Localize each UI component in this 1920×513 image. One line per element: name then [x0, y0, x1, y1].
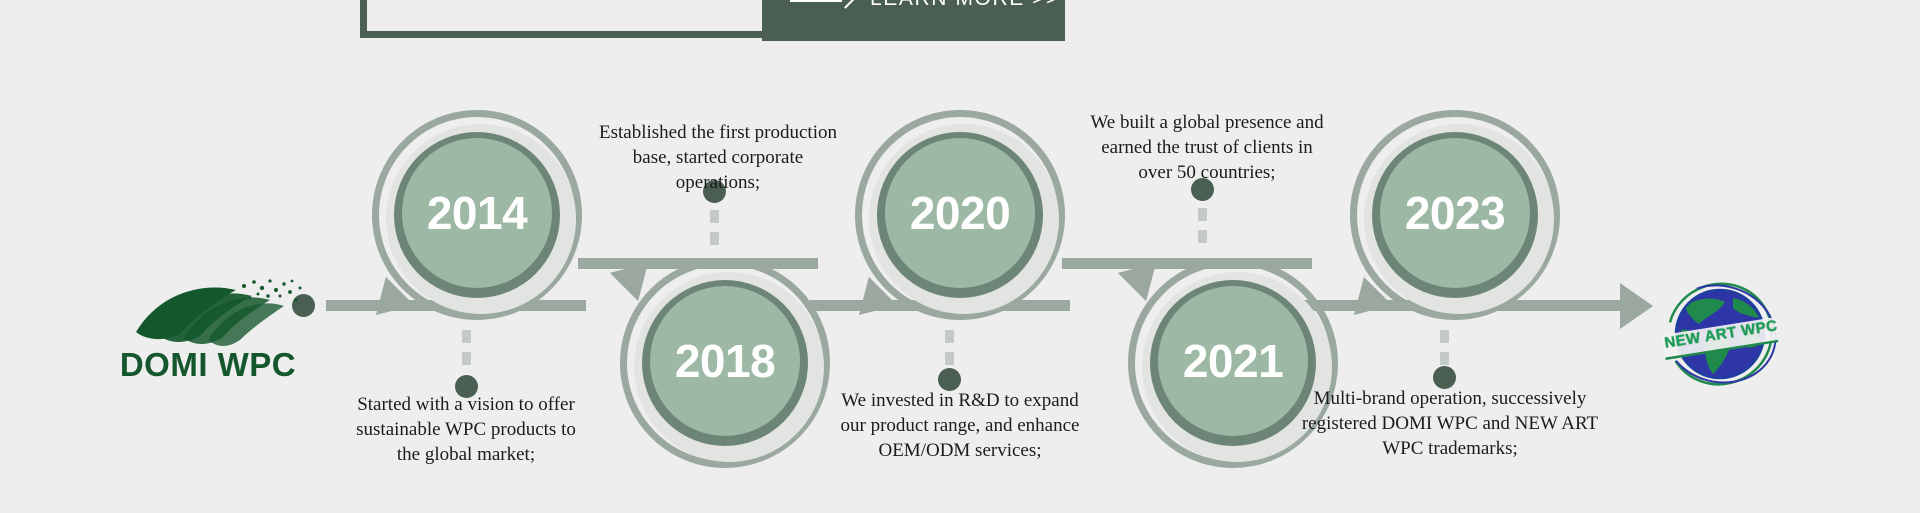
caption-2023: Multi-brand operation, successively regi…: [1300, 386, 1600, 461]
arrow-right-icon: [790, 0, 852, 7]
new-art-wpc-logo: NEW ART WPC: [1655, 272, 1785, 402]
ring-inner: 2023: [1380, 138, 1530, 288]
caption-2014: Started with a vision to offer sustainab…: [346, 392, 586, 467]
milestone-node-2018[interactable]: 2018: [620, 258, 830, 468]
year-label: 2020: [910, 186, 1010, 240]
domi-wpc-logo: DOMI WPC: [108, 276, 308, 384]
ring-inner: 2021: [1158, 286, 1308, 436]
domi-wpc-wordmark: DOMI WPC: [108, 346, 308, 384]
year-label: 2023: [1405, 186, 1505, 240]
year-label: 2014: [427, 186, 527, 240]
spine-end-arrow-icon: [1620, 283, 1653, 329]
ring-inner: 2018: [650, 286, 800, 436]
year-label: 2021: [1183, 334, 1283, 388]
learn-more-label: LEARN MORE >>: [870, 0, 1060, 11]
ring-inner: 2014: [402, 138, 552, 288]
banner-frame: [360, 0, 770, 38]
milestone-node-2014[interactable]: 2014: [372, 110, 582, 320]
caption-2018: Established the first production base, s…: [598, 120, 838, 195]
caption-2021: We built a global presence and earned th…: [1082, 110, 1332, 185]
stem-2014: [462, 330, 471, 374]
caption-2020: We invested in R&D to expand our product…: [830, 388, 1090, 463]
stem-2018: [710, 210, 719, 254]
milestone-node-2023[interactable]: 2023: [1350, 110, 1560, 320]
milestone-node-2020[interactable]: 2020: [855, 110, 1065, 320]
timeline-infographic: LEARN MORE >> DOMI WPC: [0, 0, 1920, 513]
ring-inner: 2020: [885, 138, 1035, 288]
stem-2021: [1198, 208, 1207, 252]
leaf-wave-icon: [108, 276, 308, 352]
year-label: 2018: [675, 334, 775, 388]
learn-more-button[interactable]: LEARN MORE >>: [762, 0, 1065, 41]
